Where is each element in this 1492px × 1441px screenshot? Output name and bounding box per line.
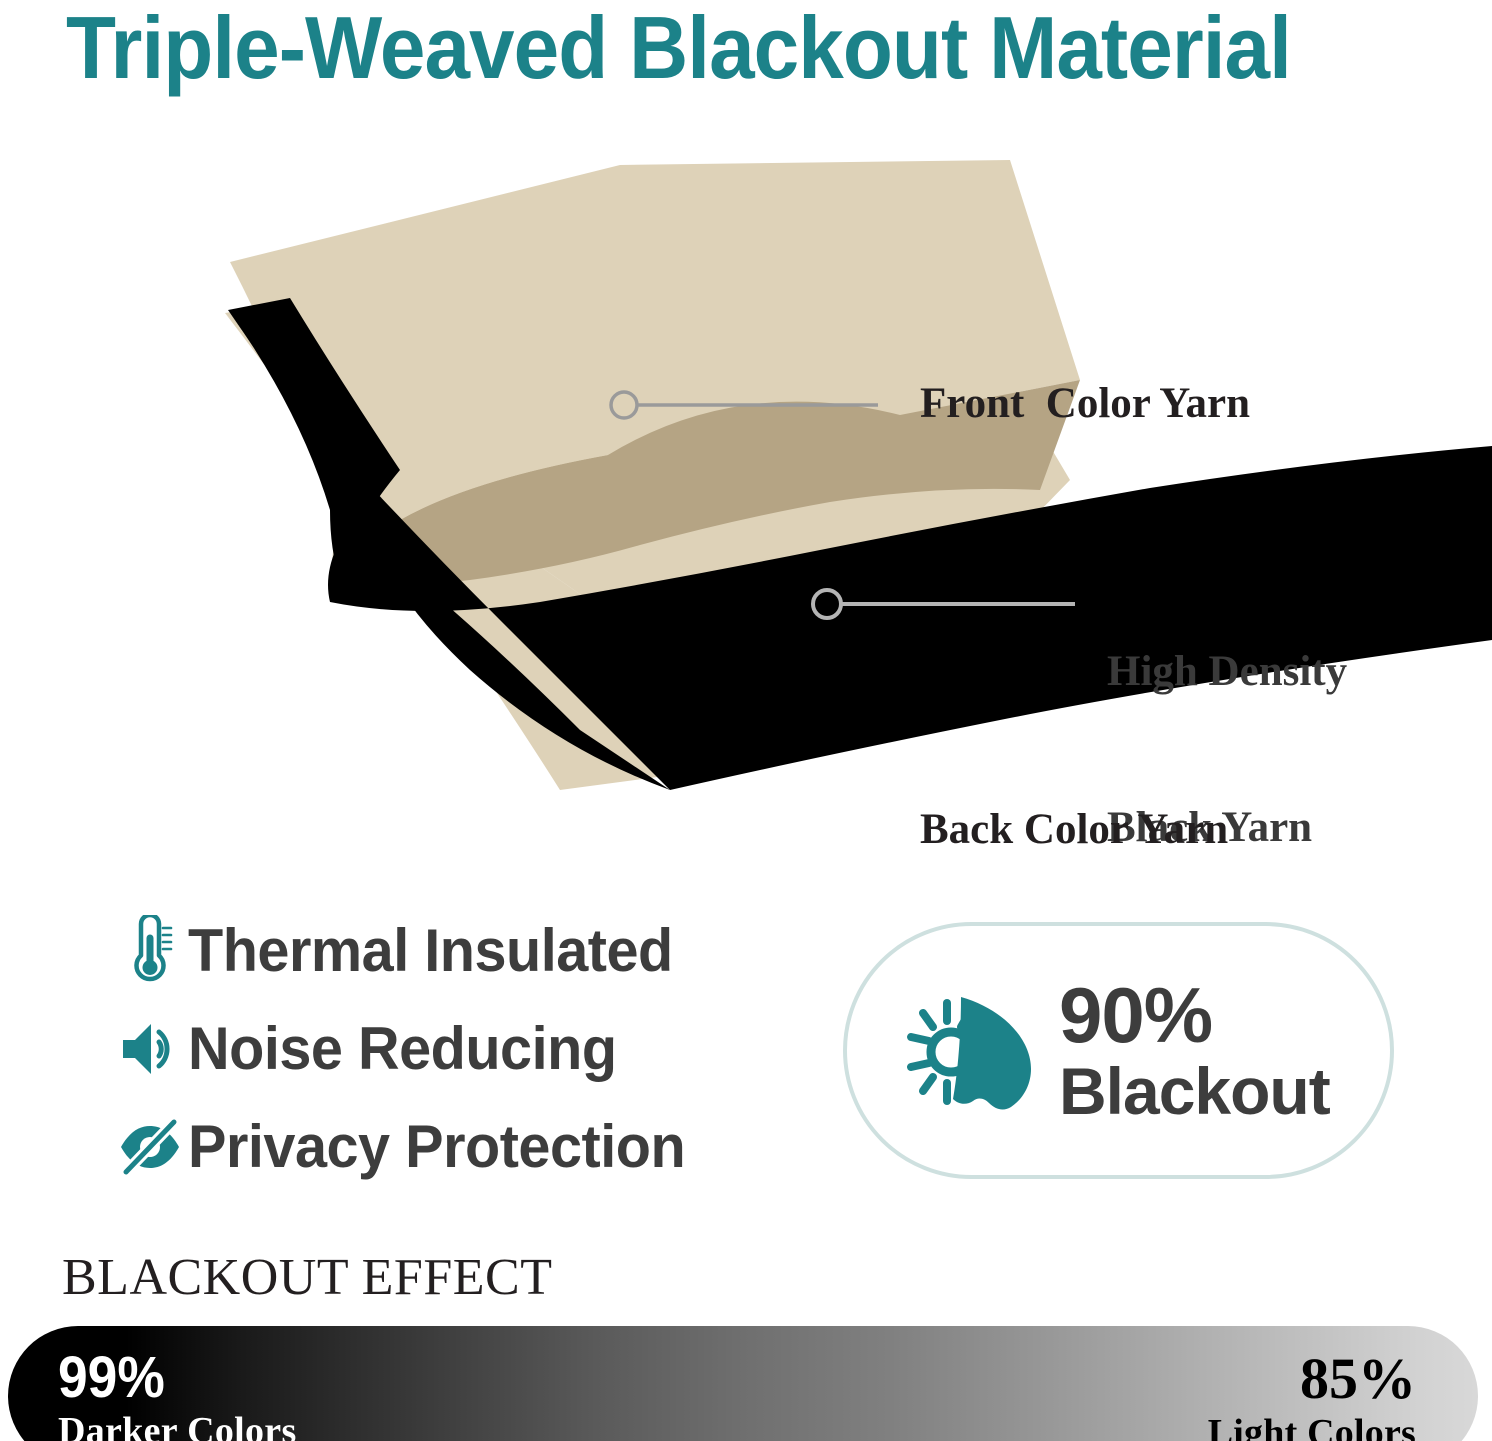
feature-label-noise-reducing: Noise Reducing [188,1016,617,1082]
feature-item-noise-reducing: Noise Reducing [112,1000,832,1098]
sun-behind-curtain-icon [895,981,1043,1121]
eye-slash-icon [112,1118,188,1176]
gradient-left-subtitle: Darker Colors [58,1408,297,1441]
feature-item-thermal-insulated: Thermal Insulated [112,902,832,1000]
blackout-effect-gradient-bar: 99% Darker Colors 85% Light Colors [8,1326,1478,1441]
badge-word: Blackout [1059,1055,1330,1127]
blackout-percentage-badge: 90% Blackout [843,922,1394,1179]
feature-label-privacy-protection: Privacy Protection [188,1114,685,1180]
gradient-bar-right-value: 85% Light Colors [1208,1348,1416,1441]
badge-text-group: 90% Blackout [1059,975,1330,1127]
page-title: Triple-Weaved Blackout Material [66,0,1368,100]
gradient-right-subtitle: Light Colors [1208,1410,1416,1441]
diagram-label-back-color-yarn: Back Color Yarn [920,804,1228,856]
gradient-bar-left-value: 99% Darker Colors [58,1348,297,1441]
feature-list: Thermal Insulated Noise Reducing [112,902,832,1196]
diagram-label-high-density-black-yarn: High Density Black Yarn [1107,542,1347,958]
gradient-right-percent: 85% [1208,1348,1416,1410]
thermometer-icon [112,915,188,987]
triple-weave-layer-diagram: Front Color Yarn High Density Black Yarn… [0,150,1492,810]
product-infographic: Triple-Weaved Blackout Material [0,0,1492,1441]
gradient-left-percent: 99% [58,1348,277,1408]
feature-label-thermal-insulated: Thermal Insulated [188,918,673,984]
badge-percent: 90% [1059,975,1330,1055]
diagram-label-front-color-yarn: Front Color Yarn [920,378,1250,430]
feature-item-privacy-protection: Privacy Protection [112,1098,832,1196]
speaker-volume-icon [112,1019,188,1079]
blackout-effect-heading: BLACKOUT EFFECT [62,1249,552,1307]
diagram-label-line-1: High Density [1107,646,1347,698]
